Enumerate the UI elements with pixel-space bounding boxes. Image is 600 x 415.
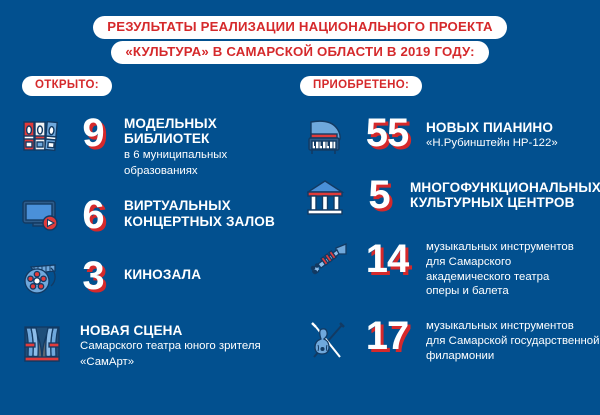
pianos-sub-1: «Н.Рубинштейн НР-122» (426, 136, 558, 151)
libraries-sub-2: образованиях (124, 164, 227, 179)
stat-text-new-stage: НОВАЯ СЦЕНА Самарского театра юного зрит… (70, 319, 261, 370)
culture-centers-headline-1: МНОГОФУНКЦИОНАЛЬНЫХ (410, 180, 600, 195)
new-stage-sub-1: Самарского театра юного зрителя (80, 339, 261, 354)
stat-number-philharmonic-instruments: 17 (356, 315, 418, 356)
stat-row-cinema: 3 КИНОЗАЛА (14, 255, 300, 296)
violin-icon (300, 315, 356, 359)
stat-text-virtual-halls: ВИРТУАЛЬНЫХ КОНЦЕРТНЫХ ЗАЛОВ (116, 194, 275, 229)
opera-instruments-line-3: академического театра (426, 270, 574, 285)
philharmonic-instruments-line-2: для Самарской государственной (426, 334, 600, 349)
trumpet-icon (300, 238, 356, 280)
stat-text-libraries: МОДЕЛЬНЫХ БИБЛИОТЕК в 6 муниципальных об… (116, 112, 227, 178)
column-opened: 9 МОДЕЛЬНЫХ БИБЛИОТЕК в 6 муниципальных … (0, 112, 300, 375)
section-badges: ОТКРЫТО: ПРИОБРЕТЕНО: (0, 76, 600, 106)
theater-curtain-icon (14, 319, 70, 365)
stat-row-virtual-halls: 6 ВИРТУАЛЬНЫХ КОНЦЕРТНЫХ ЗАЛОВ (14, 194, 300, 235)
stat-row-new-stage: НОВАЯ СЦЕНА Самарского театра юного зрит… (14, 319, 300, 370)
stat-row-pianos: 55 НОВЫХ ПИАНИНО «Н.Рубинштейн НР-122» (300, 112, 600, 156)
culture-centers-headline-2: КУЛЬТУРНЫХ ЦЕНТРОВ (410, 195, 600, 210)
cinema-headline-1: КИНОЗАЛА (124, 267, 201, 282)
infographic-poster: РЕЗУЛЬТАТЫ РЕАЛИЗАЦИИ НАЦИОНАЛЬНОГО ПРОЕ… (0, 0, 600, 415)
new-stage-headline-1: НОВАЯ СЦЕНА (80, 323, 261, 338)
stat-text-cinema: КИНОЗАЛА (116, 255, 201, 282)
virtual-halls-headline-2: КОНЦЕРТНЫХ ЗАЛОВ (124, 214, 275, 229)
pianos-headline-1: НОВЫХ ПИАНИНО (426, 120, 558, 135)
philharmonic-instruments-line-1: музыкальных инструментов (426, 319, 600, 334)
stat-row-culture-centers: 5 МНОГОФУНКЦИОНАЛЬНЫХ КУЛЬТУРНЫХ ЦЕНТРОВ (300, 174, 600, 218)
new-stage-sub-2: «СамАрт» (80, 355, 261, 370)
stat-text-philharmonic-instruments: музыкальных инструментов для Самарской г… (418, 315, 600, 363)
stat-number-virtual-halls: 6 (70, 194, 116, 235)
libraries-headline-2: БИБЛИОТЕК (124, 131, 227, 146)
culture-center-building-icon (300, 174, 356, 218)
opera-instruments-line-1: музыкальных инструментов (426, 240, 574, 255)
stat-number-pianos: 55 (356, 112, 418, 153)
opera-instruments-line-4: оперы и балета (426, 284, 574, 299)
title-line-2: «КУЛЬТУРА» В САМАРСКОЙ ОБЛАСТИ В 2019 ГО… (111, 41, 488, 64)
stat-row-opera-instruments: 14 музыкальных инструментов для Самарско… (300, 238, 600, 299)
column-acquired: 55 НОВЫХ ПИАНИНО «Н.Рубинштейн НР-122» (300, 112, 600, 375)
libraries-sub-1: в 6 муниципальных (124, 148, 227, 163)
stat-number-libraries: 9 (70, 112, 116, 153)
stat-number-cinema: 3 (70, 255, 116, 296)
opera-instruments-line-2: для Самарского (426, 255, 574, 270)
virtual-halls-headline-1: ВИРТУАЛЬНЫХ (124, 198, 275, 213)
stat-text-culture-centers: МНОГОФУНКЦИОНАЛЬНЫХ КУЛЬТУРНЫХ ЦЕНТРОВ (402, 174, 600, 211)
stat-text-opera-instruments: музыкальных инструментов для Самарского … (418, 238, 574, 299)
philharmonic-instruments-line-3: филармонии (426, 349, 600, 364)
stats-columns: 9 МОДЕЛЬНЫХ БИБЛИОТЕК в 6 муниципальных … (0, 112, 600, 375)
section-badge-opened: ОТКРЫТО: (22, 76, 112, 97)
piano-icon (300, 112, 356, 156)
film-reel-icon (14, 255, 70, 295)
virtual-hall-screen-icon (14, 194, 70, 232)
title-line-1: РЕЗУЛЬТАТЫ РЕАЛИЗАЦИИ НАЦИОНАЛЬНОГО ПРОЕ… (93, 16, 506, 39)
stat-row-libraries: 9 МОДЕЛЬНЫХ БИБЛИОТЕК в 6 муниципальных … (14, 112, 300, 178)
stat-row-philharmonic-instruments: 17 музыкальных инструментов для Самарско… (300, 315, 600, 363)
section-badge-acquired: ПРИОБРЕТЕНО: (300, 76, 422, 97)
page-title: РЕЗУЛЬТАТЫ РЕАЛИЗАЦИИ НАЦИОНАЛЬНОГО ПРОЕ… (0, 0, 600, 64)
stat-text-pianos: НОВЫХ ПИАНИНО «Н.Рубинштейн НР-122» (418, 112, 558, 151)
stat-number-culture-centers: 5 (356, 174, 402, 215)
books-icon (14, 112, 70, 154)
libraries-headline-1: МОДЕЛЬНЫХ (124, 116, 227, 131)
stat-number-opera-instruments: 14 (356, 238, 418, 279)
